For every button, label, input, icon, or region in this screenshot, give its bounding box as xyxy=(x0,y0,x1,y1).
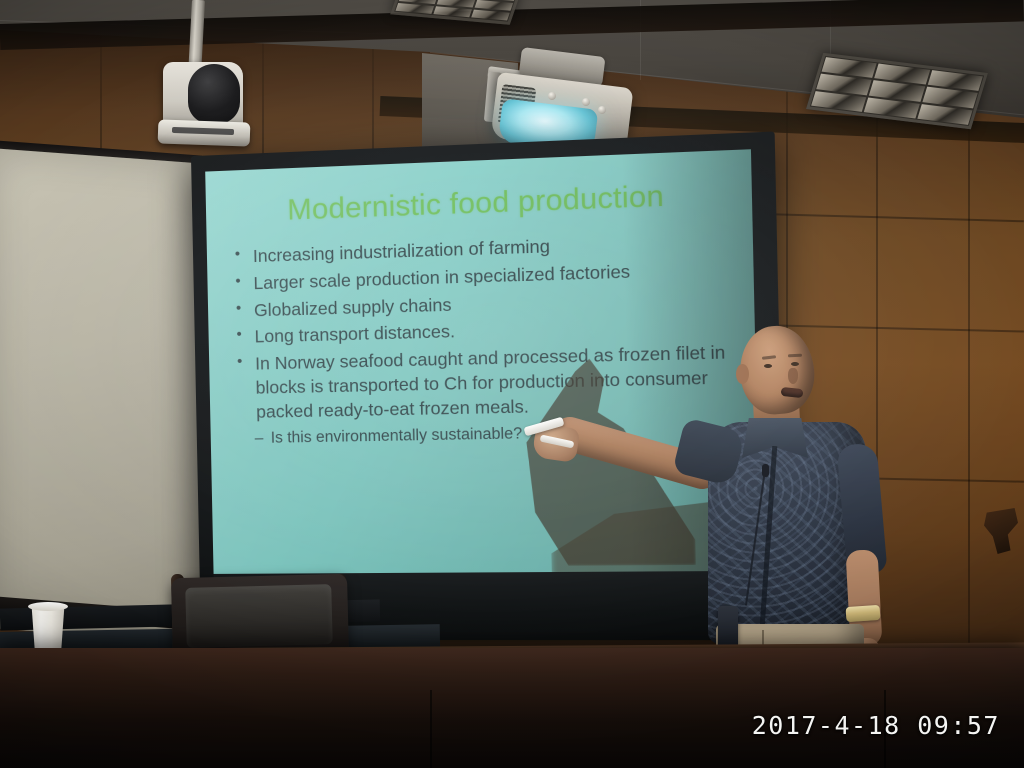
chair-leather-pad xyxy=(185,584,333,648)
podium xyxy=(0,648,1024,768)
podium-seam xyxy=(430,690,432,768)
photo-scene: Modernistic food production Increasing i… xyxy=(0,0,1024,768)
belt-transmitter xyxy=(718,606,738,650)
paper-cup-rim xyxy=(28,602,68,611)
camera-timestamp: 2017-4-18 09:57 xyxy=(752,711,1000,740)
presenter-nose xyxy=(788,368,798,384)
slide-title: Modernistic food production xyxy=(226,177,731,230)
presenter-eye xyxy=(764,364,772,368)
whiteboard xyxy=(0,148,200,643)
ptz-camera-lens-dome xyxy=(188,64,240,124)
presenter xyxy=(636,318,906,668)
presenter-eye xyxy=(791,362,799,366)
wristwatch xyxy=(846,605,881,622)
paper-cup xyxy=(30,604,66,654)
presenter-ear xyxy=(736,364,749,384)
lapel-microphone xyxy=(762,464,769,477)
